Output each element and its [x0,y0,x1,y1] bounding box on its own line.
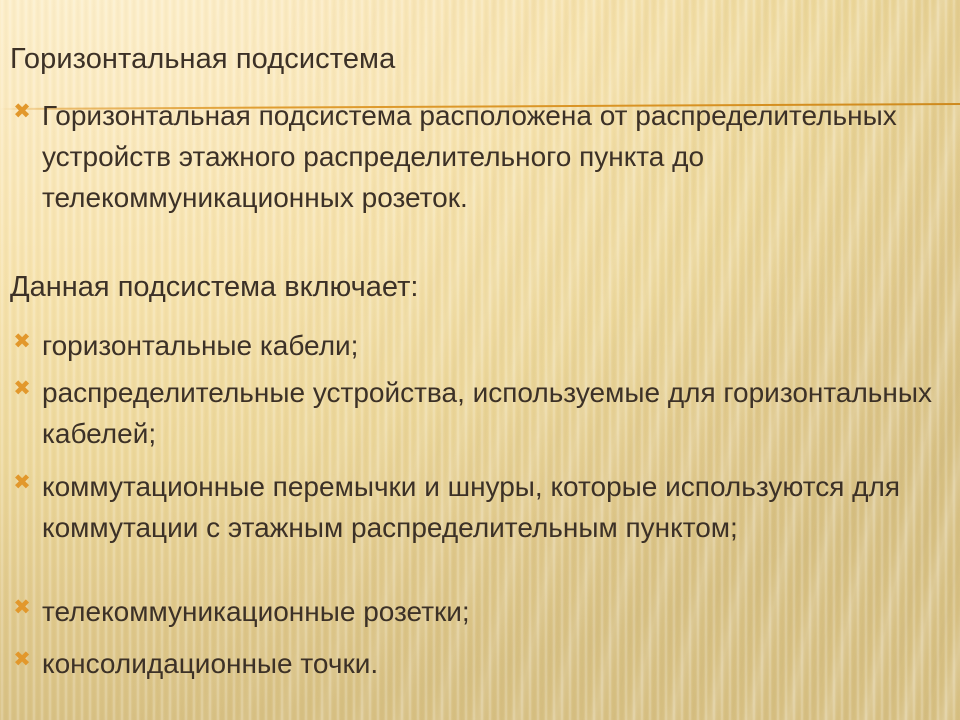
bullet-x-icon: ✖ [11,329,33,353]
bullet-item-2-text: горизонтальные кабели; [42,325,940,366]
bullet-item-1-text: Горизонтальная подсистема расположена от… [42,95,940,218]
bullet-x-icon: ✖ [11,595,33,619]
bullet-item-3-text: распределительные устройства, используем… [42,372,940,454]
bullet-x-icon: ✖ [11,647,33,671]
bullet-item-5: ✖ телекоммуникационные розетки; [8,591,940,632]
slide-title: Горизонтальная подсистема [10,42,395,76]
bullet-x-icon: ✖ [11,470,33,494]
bullet-item-4-text: коммутационные перемычки и шнуры, которы… [42,466,940,548]
bullet-item-3: ✖ распределительные устройства, использу… [8,372,940,454]
bullet-item-5-text: телекоммуникационные розетки; [42,591,940,632]
bullet-item-1: ✖ Горизонтальная подсистема расположена … [8,95,940,218]
intro-paragraph: Данная подсистема включает: [10,270,418,304]
bullet-item-2: ✖ горизонтальные кабели; [8,325,940,366]
bullet-x-icon: ✖ [11,99,33,123]
presentation-slide: Горизонтальная подсистема ✖ Горизонтальн… [0,0,960,720]
bullet-x-icon: ✖ [11,376,33,400]
bullet-item-6-text: консолидационные точки. [42,643,940,684]
bullet-item-6: ✖ консолидационные точки. [8,643,940,684]
bullet-item-4: ✖ коммутационные перемычки и шнуры, кото… [8,466,940,548]
